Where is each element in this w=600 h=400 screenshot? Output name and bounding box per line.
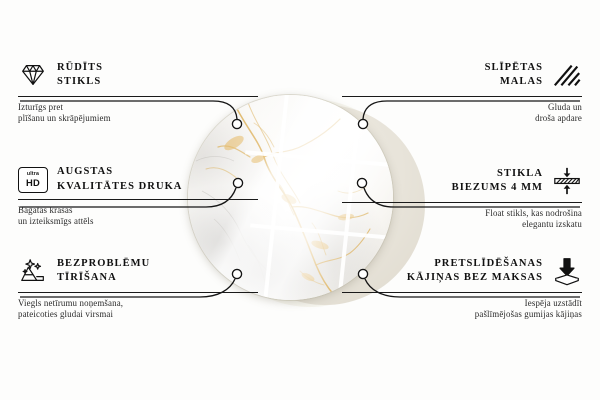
ultra-hd-icon: ultra HD <box>18 167 48 193</box>
divider <box>342 96 582 97</box>
feature-desc-line1: Float stikls, kas nodrošina <box>342 208 582 219</box>
feature-title-line1: PRETSLĪDĒŠANAS <box>434 258 543 271</box>
sparkle-clean-icon <box>18 256 48 286</box>
feature-print-quality: ultra HD AUGSTAS KVALITĀTES DRUKA Bagāta… <box>18 166 258 228</box>
feature-title-line2: MALAS <box>500 76 543 89</box>
divider <box>18 199 258 200</box>
feature-description: Izturīgs pret plīšanu un skrāpējumiem <box>18 102 258 125</box>
diamond-icon <box>18 60 48 90</box>
feature-title-line1: RŪDĪTS <box>57 62 103 75</box>
feature-title-line2: KĀJIŅAS BEZ MAKSAS <box>407 272 543 285</box>
feature-description: Viegls netīrumu noņemšana, pateicoties g… <box>18 298 258 321</box>
ultra-hd-icon-bottom-label: HD <box>26 178 40 187</box>
feature-title-line2: KVALITĀTES DRUKA <box>57 181 182 194</box>
feature-desc-line2: un izteiksmīgs attēls <box>18 216 258 227</box>
feature-desc-line1: Viegls netīrumu noņemšana, <box>18 298 258 309</box>
feature-desc-line1: Bagātas krāsas <box>18 205 258 216</box>
feature-description: Bagātas krāsas un izteiksmīgs attēls <box>18 205 258 228</box>
diagonal-stripes-icon <box>552 60 582 90</box>
feature-desc-line1: Iespēja uzstādīt <box>342 298 582 309</box>
divider <box>18 96 258 97</box>
press-pad-icon <box>552 256 582 286</box>
feature-description: Gluda un droša apdare <box>342 102 582 125</box>
feature-easy-cleaning: BEZPROBLĒMU TĪRĪŠANA Viegls netīrumu noņ… <box>18 256 258 321</box>
feature-anti-slip-feet: PRETSLĪDĒŠANAS KĀJIŅAS BEZ MAKSAS Iespēj… <box>342 256 582 321</box>
feature-desc-line2: plīšanu un skrāpējumiem <box>18 113 258 124</box>
feature-tempered-glass: RŪDĪTS STIKLS Izturīgs pret plīšanu un s… <box>18 60 258 125</box>
feature-title-line2: TĪRĪŠANA <box>57 272 150 285</box>
feature-title-line1: STIKLA <box>497 168 543 181</box>
feature-desc-line2: pateicoties gludai virsmai <box>18 309 258 320</box>
feature-title-line1: AUGSTAS <box>57 166 182 179</box>
divider <box>342 292 582 293</box>
feature-desc-line1: Gluda un <box>342 102 582 113</box>
feature-desc-line2: elegantu izskatu <box>342 219 582 230</box>
feature-desc-line1: Izturīgs pret <box>18 102 258 113</box>
feature-title-line2: STIKLS <box>57 76 103 89</box>
feature-desc-line2: droša apdare <box>342 113 582 124</box>
divider <box>18 292 258 293</box>
infographic-canvas: RŪDĪTS STIKLS Izturīgs pret plīšanu un s… <box>0 0 600 400</box>
thickness-arrows-icon <box>552 166 582 196</box>
feature-glass-thickness: STIKLA BIEZUMS 4 MM <box>342 166 582 231</box>
feature-title-line1: SLĪPĒTAS <box>485 62 543 75</box>
feature-description: Float stikls, kas nodrošina elegantu izs… <box>342 208 582 231</box>
feature-desc-line2: pašlīmējošas gumijas kājiņas <box>342 309 582 320</box>
feature-description: Iespēja uzstādīt pašlīmējošas gumijas kā… <box>342 298 582 321</box>
feature-title-line1: BEZPROBLĒMU <box>57 258 150 271</box>
feature-polished-edges: SLĪPĒTAS MALAS Gluda un droša apdare <box>342 60 582 125</box>
divider <box>342 202 582 203</box>
feature-title-line2: BIEZUMS 4 MM <box>452 182 543 195</box>
